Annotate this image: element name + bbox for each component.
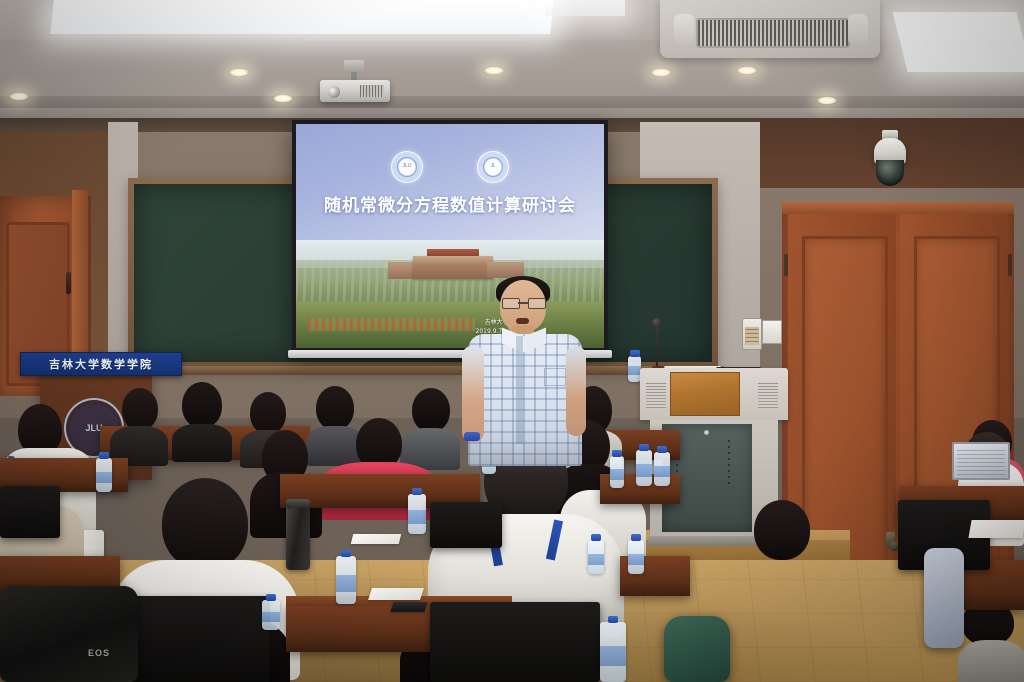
paper-documents-mid: [351, 534, 401, 544]
slide-photo-flowers: [308, 318, 474, 331]
bottle-mid-3: [636, 450, 652, 486]
audience-member-back-2: [172, 382, 230, 454]
skylight-panel-right: [893, 12, 1024, 72]
bottle-label: [628, 554, 644, 566]
seal-left-text: JLU: [397, 157, 417, 177]
presenter-arm-right: [566, 346, 586, 436]
slide-title: 随机常微分方程数值计算研讨会: [296, 191, 604, 216]
door-left-handle-icon[interactable]: [66, 272, 71, 294]
projector-lens-icon: [328, 86, 340, 98]
bottle-front-4: [588, 540, 604, 574]
venue-sign-text: 吉林大学数学学院: [49, 356, 153, 372]
bottle-front-5: [628, 540, 644, 574]
paper-documents-front: [368, 588, 424, 600]
ceiling-projector: [320, 60, 390, 102]
paper-documents-right: [968, 520, 1024, 538]
seal-right-text: JL: [483, 157, 503, 177]
camera-bag-logo: EOS: [88, 648, 110, 658]
bottle-cap-icon: [341, 550, 351, 557]
doors-right-header: [782, 202, 1014, 214]
bottle-mid-2: [408, 494, 426, 534]
laptop-screen: [952, 442, 1010, 480]
audience-member-front-right-dark: [736, 500, 832, 630]
seatback-front-center: [430, 602, 600, 682]
lectern-lock-icon[interactable]: [704, 430, 709, 435]
green-backpack: [664, 616, 730, 682]
bottle-label: [636, 464, 652, 476]
lectern-speaker-right-icon: [758, 382, 778, 408]
door-hinge-right-icon: [1008, 254, 1012, 276]
lectern-vent-right: [728, 440, 730, 484]
presenter-checkered-shirt: [468, 334, 582, 466]
bottle-cap-icon: [412, 488, 422, 495]
bottle-label: [262, 612, 280, 622]
phone-on-desk: [390, 602, 427, 612]
downlight-icon: [228, 68, 250, 77]
skylight-panel-center: [545, 0, 625, 16]
bottle-cap-icon: [657, 446, 667, 453]
lectern-wood-front: [670, 372, 740, 416]
audience-member-back-1: [110, 388, 166, 458]
eyeglass-bridge: [518, 302, 528, 304]
bottle-cap-icon: [608, 616, 618, 623]
microphone-stem: [656, 326, 658, 370]
bottle-label: [654, 466, 670, 478]
ptz-dome-camera-icon: [872, 130, 908, 192]
draped-jacket: [924, 548, 964, 648]
downlight-icon: [272, 94, 294, 103]
bottle-front-3: [262, 600, 280, 630]
bottle-label: [600, 646, 626, 666]
eyeglass-lens-right: [528, 298, 546, 309]
lecture-hall-photo: JLU JL 随机常微分方程数值计算研讨会 吉林大学 2019.9.7 - 9.…: [0, 0, 1024, 682]
projector-vent: [360, 85, 384, 97]
downlight-icon: [816, 96, 838, 105]
torso: [958, 640, 1024, 682]
downlight-icon: [8, 92, 30, 101]
keypad-buttons-icon[interactable]: [745, 327, 759, 345]
head: [754, 500, 810, 560]
presenter-wristband: [464, 432, 480, 441]
ceiling-band: [0, 96, 1024, 108]
bottle-cap-icon: [631, 534, 641, 541]
bottle-label: [408, 510, 426, 524]
wall-control-keypad[interactable]: [742, 318, 762, 350]
venue-sign: 吉林大学数学学院: [20, 352, 182, 376]
air-conditioner-unit: [660, 0, 880, 58]
bottle-cap-icon: [266, 594, 276, 601]
downlight-icon: [736, 66, 758, 75]
bottle-cap-icon: [591, 534, 601, 541]
lectern-speaker-left-icon: [646, 382, 666, 408]
wall-notice-card: [762, 320, 782, 344]
bottle-cap-icon: [639, 444, 649, 451]
head: [122, 388, 158, 430]
bottle-cap-icon: [99, 452, 109, 459]
bottle-mid-4: [654, 452, 670, 486]
skylight-panel-left: [50, 0, 554, 34]
presenter-arm-left: [462, 346, 484, 442]
bottle-label: [588, 554, 604, 566]
presenter: [462, 276, 588, 466]
gooseneck-microphone-icon: [652, 318, 662, 370]
university-seal-right-icon: JL: [477, 151, 509, 183]
torso: [172, 424, 232, 462]
eyeglass-lens-left: [502, 298, 520, 309]
ac-vane-left: [674, 14, 694, 44]
downlight-icon: [650, 68, 672, 77]
head: [250, 392, 286, 434]
eyeglasses-icon: [502, 298, 544, 307]
open-laptop[interactable]: [952, 442, 1006, 490]
presenter-shirt-placket: [516, 336, 523, 444]
bottle-cap-icon: [630, 350, 640, 357]
ac-vane-right: [848, 14, 868, 44]
slide-logos: JLU JL: [296, 142, 604, 191]
head: [162, 478, 248, 570]
bottle-front-1: [336, 556, 356, 604]
downlight-icon: [483, 66, 505, 75]
bottle-label: [336, 575, 356, 591]
presenter-mouth: [516, 318, 529, 324]
seatback-mid-left: [0, 486, 60, 538]
camera-dome-lens: [876, 160, 904, 186]
head: [182, 382, 222, 428]
laptop-screen-content: [957, 447, 1005, 475]
door-hinge-left-icon: [784, 254, 788, 276]
ac-grille-icon: [696, 18, 850, 48]
presenter-shirt-pocket: [544, 368, 566, 386]
university-seal-left-icon: JLU: [391, 151, 423, 183]
camera-bag: EOS: [0, 586, 138, 682]
audience-member-right-bottom: [958, 600, 1024, 682]
seatback-mid-center: [430, 502, 502, 548]
bottle-front-2: [600, 622, 626, 682]
